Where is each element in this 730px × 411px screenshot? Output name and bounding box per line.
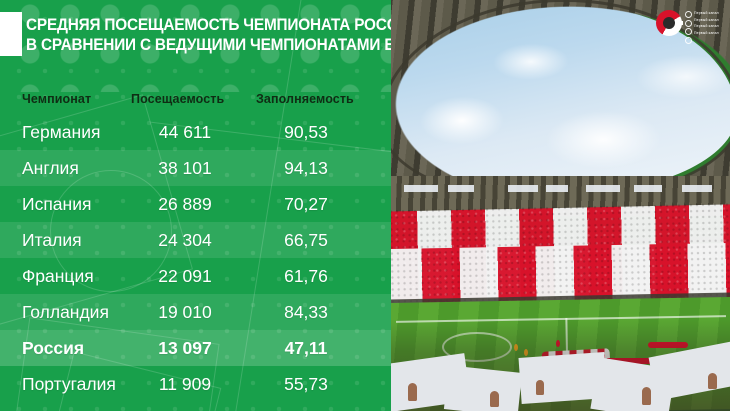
cell-attendance: 38 101 (131, 157, 239, 179)
table-row: Германия 44 611 90,53 (0, 114, 391, 150)
cell-championship: Голландия (22, 301, 109, 323)
column-header-championship: Чемпионат (22, 92, 91, 106)
infographic-slide: Первый канал Первый канал Первый канал П… (0, 0, 730, 411)
stadium-photo (390, 0, 730, 411)
table-row: Франция 22 091 61,76 (0, 258, 391, 294)
cell-attendance: 44 611 (131, 121, 239, 143)
cell-championship: Англия (22, 157, 79, 179)
table-row: Италия 24 304 66,75 (0, 222, 391, 258)
broadcaster-channel-line: Первый канал (694, 23, 719, 30)
broadcaster-channel-line: Первый канал (694, 10, 719, 17)
cell-occupancy: 55,73 (256, 373, 356, 395)
table-row: Голландия 19 010 84,33 (0, 294, 391, 330)
cell-attendance: 24 304 (131, 229, 239, 251)
cell-championship: Португалия (22, 373, 116, 395)
cell-championship: Германия (22, 121, 100, 143)
cell-occupancy: 94,13 (256, 157, 356, 179)
column-header-occupancy: Заполняемость (256, 92, 354, 106)
cell-attendance: 22 091 (131, 265, 239, 287)
cell-attendance: 19 010 (131, 301, 239, 323)
cell-attendance: 26 889 (131, 193, 239, 215)
broadcaster-channel-list: Первый канал Первый канал Первый канал П… (694, 10, 719, 36)
cell-attendance: 11 909 (131, 373, 239, 395)
broadcaster-bullet-icons (685, 11, 692, 45)
broadcaster-mark-icon (656, 10, 682, 36)
cell-attendance: 13 097 (131, 337, 239, 359)
table-row: Португалия 11 909 55,73 (0, 366, 391, 402)
foreground-crowd (390, 319, 730, 411)
cell-occupancy: 47,11 (256, 337, 356, 359)
page-title-line-2: В СРАВНЕНИИ С ВЕДУЩИМИ ЧЕМПИОНАТАМИ ЕВРО… (26, 37, 391, 54)
page-title-line-1: СРЕДНЯЯ ПОСЕЩАЕМОСТЬ ЧЕМПИОНАТА РОССИИ (26, 17, 391, 34)
column-header-attendance: Посещаемость (131, 92, 224, 106)
cell-occupancy: 84,33 (256, 301, 356, 323)
attendance-table: Чемпионат Посещаемость Заполняемость Гер… (0, 88, 391, 402)
table-row: Англия 38 101 94,13 (0, 150, 391, 186)
broadcaster-channel-line: Первый канал (694, 30, 719, 37)
title-block: СРЕДНЯЯ ПОСЕЩАЕМОСТЬ ЧЕМПИОНАТА РОССИИ В… (0, 6, 391, 52)
logo-placeholder (0, 12, 22, 56)
cell-championship: Франция (22, 265, 94, 287)
table-row: Испания 26 889 70,27 (0, 186, 391, 222)
cell-occupancy: 66,75 (256, 229, 356, 251)
table-row-highlighted: Россия 13 097 47,11 (0, 330, 391, 366)
broadcaster-logo: Первый канал Первый канал Первый канал П… (656, 8, 722, 38)
cell-occupancy: 70,27 (256, 193, 356, 215)
table-header-row: Чемпионат Посещаемость Заполняемость (0, 88, 391, 114)
cell-occupancy: 61,76 (256, 265, 356, 287)
stats-panel: СРЕДНЯЯ ПОСЕЩАЕМОСТЬ ЧЕМПИОНАТА РОССИИ В… (0, 0, 391, 411)
cell-championship: Россия (22, 337, 84, 359)
cell-occupancy: 90,53 (256, 121, 356, 143)
cell-championship: Италия (22, 229, 82, 251)
cell-championship: Испания (22, 193, 91, 215)
